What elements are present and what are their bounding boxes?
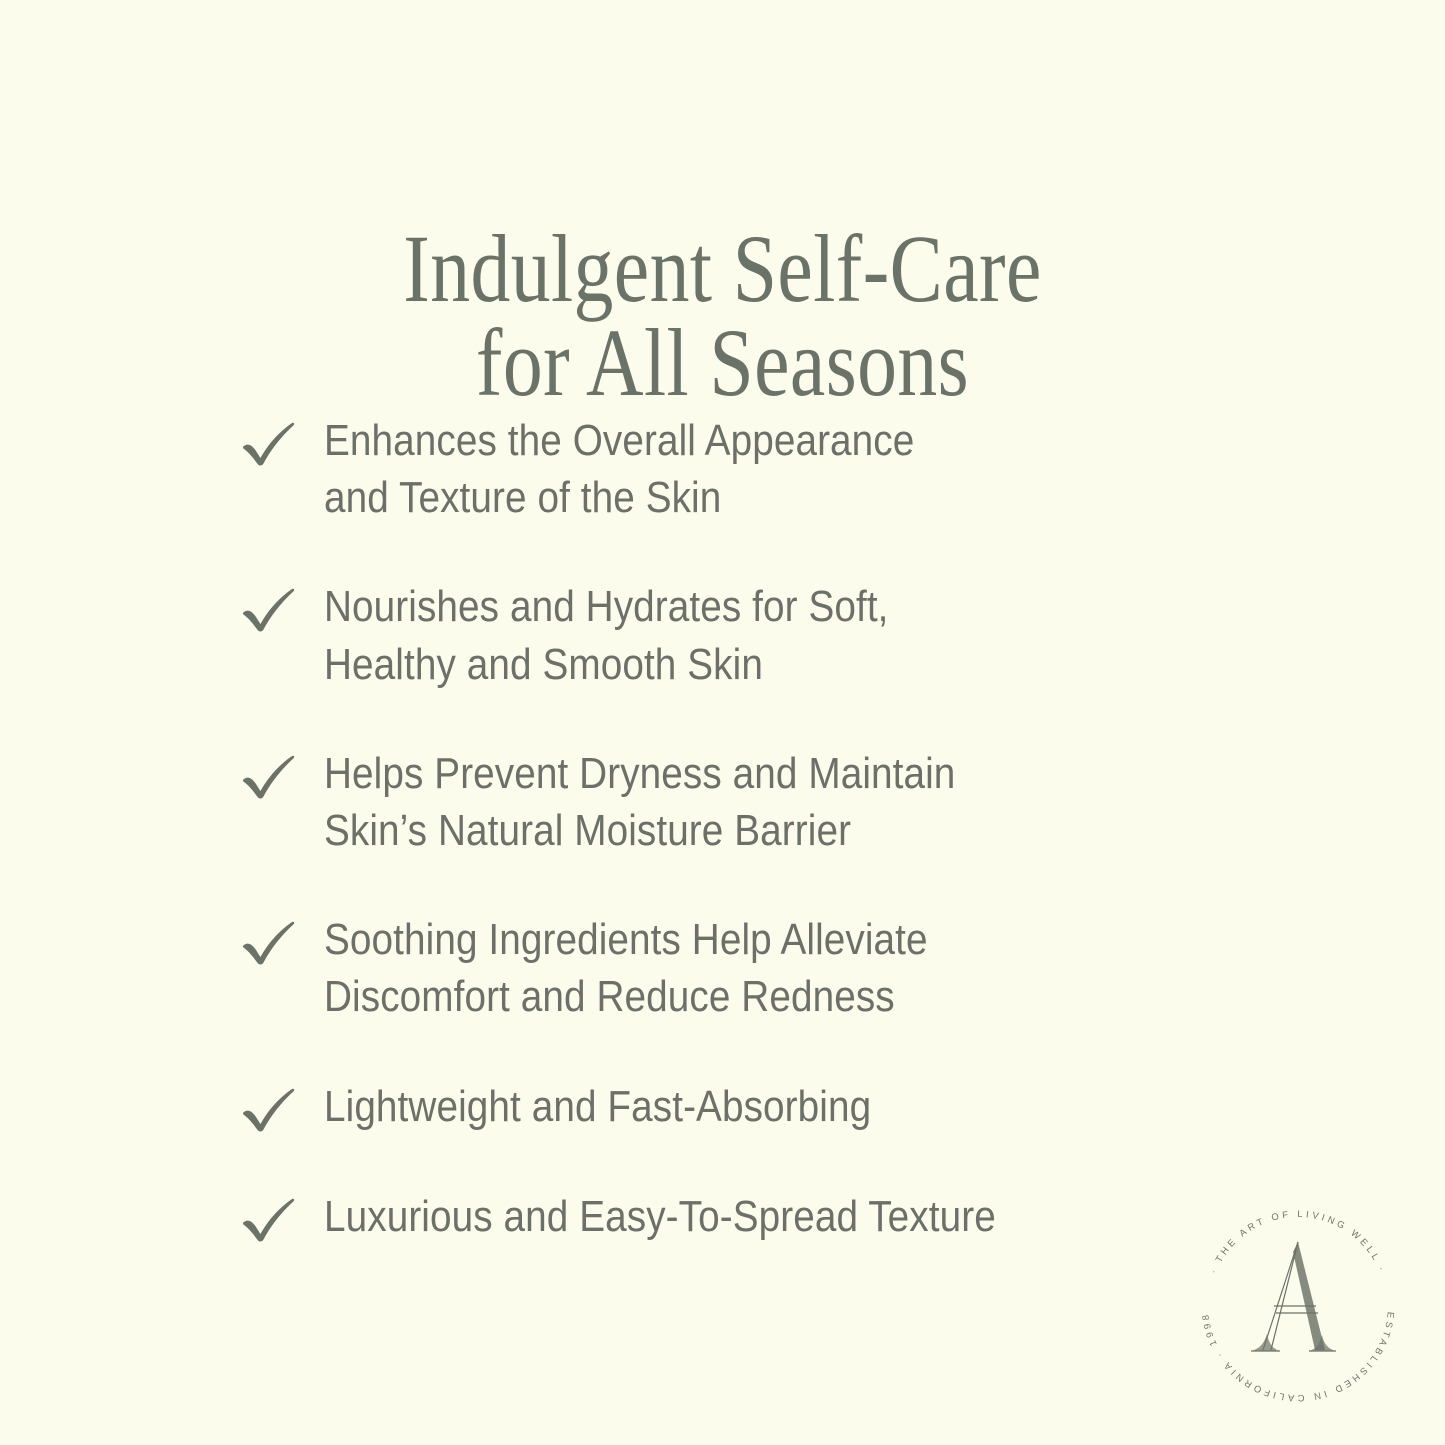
page-title: Indulgent Self-Care for All Seasons xyxy=(123,222,1322,410)
check-icon xyxy=(240,751,298,803)
list-item: Helps Prevent Dryness and Maintain Skin’… xyxy=(240,745,1200,859)
benefits-list: Enhances the Overall Appearance and Text… xyxy=(240,412,1200,1246)
list-item-label: Helps Prevent Dryness and Maintain Skin’… xyxy=(324,745,1095,859)
check-icon xyxy=(240,1194,298,1246)
list-item: Nourishes and Hydrates for Soft, Healthy… xyxy=(240,578,1200,692)
list-item-label: Enhances the Overall Appearance and Text… xyxy=(324,412,1095,526)
page-title-line-1: Indulgent Self-Care xyxy=(123,222,1322,316)
list-item-label: Lightweight and Fast-Absorbing xyxy=(324,1078,1095,1135)
list-item: Soothing Ingredients Help Alleviate Disc… xyxy=(240,911,1200,1025)
list-item: Enhances the Overall Appearance and Text… xyxy=(240,412,1200,526)
list-item: Luxurious and Easy-To-Spread Texture xyxy=(240,1188,1200,1246)
monogram-a-icon xyxy=(1251,1242,1336,1351)
brand-logo-badge: · THE ART OF LIVING WELL · ESTABLISHED I… xyxy=(1185,1192,1411,1418)
list-item-label: Nourishes and Hydrates for Soft, Healthy… xyxy=(324,578,1095,692)
poster-canvas: Indulgent Self-Care for All Seasons Enha… xyxy=(0,0,1445,1445)
check-icon xyxy=(240,418,298,470)
page-title-line-2: for All Seasons xyxy=(123,316,1322,410)
check-icon xyxy=(240,1084,298,1136)
list-item: Lightweight and Fast-Absorbing xyxy=(240,1078,1200,1136)
badge-ring-text-bottom: ESTABLISHED IN CALIFORNIA · 1998 xyxy=(1199,1311,1397,1404)
check-icon xyxy=(240,917,298,969)
check-icon xyxy=(240,584,298,636)
badge-ring-text-bottom-path: ESTABLISHED IN CALIFORNIA · 1998 xyxy=(1199,1311,1397,1404)
list-item-label: Soothing Ingredients Help Alleviate Disc… xyxy=(324,911,1095,1025)
list-item-label: Luxurious and Easy-To-Spread Texture xyxy=(324,1188,1095,1245)
